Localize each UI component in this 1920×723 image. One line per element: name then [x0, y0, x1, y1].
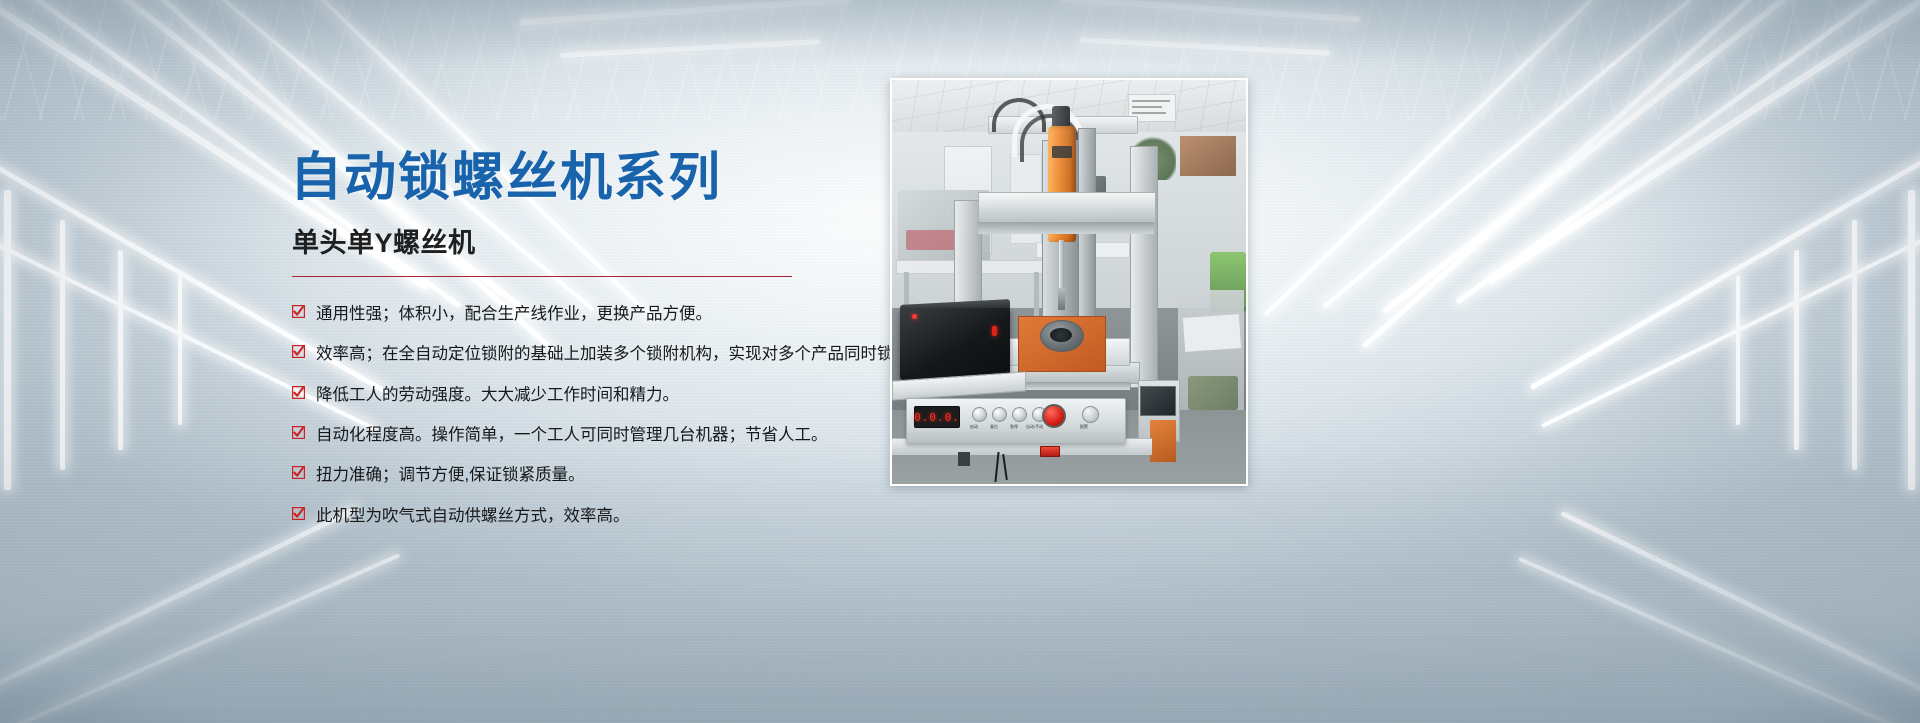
list-item-label: 自动化程度高。操作简单，一个工人可同时管理几台机器；节省人工。 — [316, 424, 828, 446]
feeder-indicator-led — [912, 314, 917, 319]
automatic-screw-locking-machine-photo: 0.0.0. 启动 复位 急停 自动/手动 报警 — [892, 80, 1246, 484]
feature-list: 通用性强；体积小，配合生产线作业，更换产品方便。 效率高；在全自动定位锁附的基础… — [290, 303, 890, 527]
power-switch[interactable] — [1040, 446, 1060, 457]
photo-box — [1180, 136, 1236, 176]
banner-content: 自动锁螺丝机系列 单头单Y螺丝机 通用性强；体积小，配合生产线作业，更换产品方便… — [290, 150, 890, 545]
control-button-label: 急停 — [1010, 424, 1018, 430]
photo-table-leg — [1034, 272, 1039, 316]
display-value: 0.0.0. — [914, 411, 960, 424]
photo-sign-line — [1132, 106, 1162, 108]
list-item: 此机型为吹气式自动供螺丝方式，效率高。 — [292, 505, 890, 527]
list-item-label: 扭力准确；调节方便,保证锁紧质量。 — [316, 464, 585, 486]
machine-column-right — [1130, 146, 1158, 388]
list-item: 通用性强；体积小，配合生产线作业，更换产品方便。 — [292, 303, 890, 325]
check-square-icon — [292, 426, 305, 439]
feeder-indicator-led — [992, 326, 997, 336]
list-item: 自动化程度高。操作简单，一个工人可同时管理几台机器；节省人工。 — [292, 424, 890, 446]
list-item: 降低工人的劳动强度。大大减少工作时间和精力。 — [292, 384, 890, 406]
list-item-label: 效率高；在全自动定位锁附的基础上加装多个锁附机构，实现对多个产品同时锁附。 — [316, 343, 927, 365]
list-item: 效率高；在全自动定位锁附的基础上加装多个锁附机构，实现对多个产品同时锁附。 — [292, 343, 890, 365]
list-item-label: 此机型为吹气式自动供螺丝方式，效率高。 — [316, 505, 630, 527]
product-photo-frame: 0.0.0. 启动 复位 急停 自动/手动 报警 — [890, 78, 1248, 486]
photo-papers — [1183, 314, 1241, 352]
machine-foot — [958, 452, 970, 466]
emergency-stop-button[interactable] — [1042, 404, 1066, 428]
check-square-icon — [292, 305, 305, 318]
machine-side-orange-part — [1150, 420, 1176, 462]
list-item: 扭力准确；调节方便,保证锁紧质量。 — [292, 464, 890, 486]
control-button-start[interactable] — [972, 407, 987, 422]
photo-sign-line — [1132, 100, 1170, 102]
list-item-label: 降低工人的劳动强度。大大减少工作时间和精力。 — [316, 384, 679, 406]
control-button-label: 报警 — [1080, 424, 1088, 430]
machine-z-rail — [1078, 128, 1096, 346]
control-button-label: 启动 — [970, 424, 978, 430]
control-button-label: 复位 — [990, 424, 998, 430]
machine-x-beam-lower — [978, 222, 1154, 234]
check-square-icon — [292, 507, 305, 520]
check-square-icon — [292, 345, 305, 358]
control-button-stop[interactable] — [1012, 407, 1027, 422]
control-knob[interactable] — [1082, 406, 1099, 423]
machine-driver-bit — [1058, 288, 1065, 310]
photo-sign-line — [1132, 112, 1166, 114]
check-square-icon — [292, 466, 305, 479]
title-divider — [292, 276, 792, 277]
control-button-reset[interactable] — [992, 407, 1007, 422]
machine-x-beam — [978, 192, 1156, 224]
control-panel-display: 0.0.0. — [914, 406, 960, 428]
machine-side-screen — [1140, 386, 1176, 416]
control-button-label: 自动/手动 — [1026, 424, 1043, 430]
machine-driver-label — [1052, 146, 1072, 158]
photo-green-item — [1188, 376, 1238, 410]
machine-screw-feeder — [900, 308, 1010, 380]
check-square-icon — [292, 386, 305, 399]
list-item-label: 通用性强；体积小，配合生产线作业，更换产品方便。 — [316, 303, 712, 325]
page-subtitle: 单头单Y螺丝机 — [292, 221, 890, 260]
machine-driver-shaft — [1059, 240, 1064, 292]
machine-workpiece-center — [1050, 328, 1072, 342]
page-title: 自动锁螺丝机系列 — [290, 150, 890, 207]
product-banner: 自动锁螺丝机系列 单头单Y螺丝机 通用性强；体积小，配合生产线作业，更换产品方便… — [0, 0, 1920, 723]
